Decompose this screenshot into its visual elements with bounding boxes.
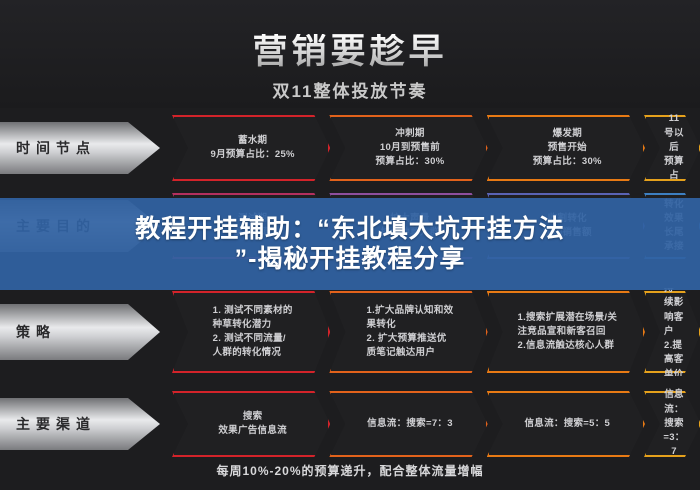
page-title: 营销要趁早: [252, 34, 447, 71]
strategy-cell-2: 1.扩大品牌认知和效 果转化 2. 扩大预算推送优 质笔记触达用户: [329, 288, 486, 376]
row-label-strategy: 策略: [0, 288, 172, 376]
row-label-plate: 策略: [0, 304, 160, 360]
cell-line: 2. 扩大预算推送优: [367, 332, 454, 346]
cell-line: 信息流：搜索=7：3: [367, 417, 453, 431]
cell-line: 信息流：搜索=3：7: [663, 388, 684, 459]
timeline-cell-4-text: 返场期 11号以后 预算占比：15%: [664, 112, 684, 184]
timeline-cell-4: 返场期 11号以后 预算占比：15%: [644, 112, 700, 184]
channel-cell-4-text: 信息流：搜索=3：7: [663, 388, 684, 459]
channel-cell-2: 信息流：搜索=7：3: [329, 388, 486, 460]
strategy-cell-3: 1.搜索扩展潜在场景/关 注竞品宣和新客召回 2.信息流触达核心人群: [487, 288, 644, 376]
timeline-cell-3: 爆发期 预售开始 预算占比：30%: [487, 112, 644, 184]
strategy-cell-4-text: 1. 返场阶段持 续影响客户 2.提高客单价 的投放方式: [664, 288, 684, 376]
row-strategy: 策略 1. 测试不同素材的 种草转化潜力 2. 测试不同流量/ 人群的转化情况 …: [0, 288, 700, 376]
channel-cell-1: 搜索 效果广告信息流: [172, 388, 329, 460]
strategy-cell-1-text: 1. 测试不同素材的 种草转化潜力 2. 测试不同流量/ 人群的转化情况: [213, 304, 293, 361]
cell-line: 9月预算占比：25%: [211, 148, 295, 162]
poster-header: 营销要趁早 双11整体投放节奏: [0, 0, 700, 108]
cell-line: 搜索: [218, 410, 287, 424]
cell-line: 预售开始: [533, 141, 602, 155]
cell-line: 预算占比：30%: [376, 155, 445, 169]
strategy-cell-1: 1. 测试不同素材的 种草转化潜力 2. 测试不同流量/ 人群的转化情况: [172, 288, 329, 376]
timeline-cell-2: 冲刺期 10月到预售前 预算占比：30%: [329, 112, 486, 184]
overlay-banner-line-2: ”-揭秘开挂教程分享: [235, 244, 466, 275]
cell-line: 爆发期: [533, 127, 602, 141]
row-label-timeline: 时间节点: [0, 112, 172, 184]
cell-line: 质笔记触达用户: [367, 346, 454, 360]
row-label-text: 策略: [0, 322, 56, 342]
overlay-banner: 教程开挂辅助：“东北填大坑开挂方法 ”-揭秘开挂教程分享: [0, 198, 700, 290]
channel-cell-2-text: 信息流：搜索=7：3: [367, 417, 453, 431]
cell-line: 2.提高客单价: [664, 339, 684, 376]
row-channel: 主要渠道 搜索 效果广告信息流 信息流：搜索=7：3 信息流：搜索=5：: [0, 388, 700, 460]
cell-line: 人群的转化情况: [213, 346, 293, 360]
cell-line: 1.搜索扩展潜在场景/关: [517, 311, 617, 325]
cell-line: 11号以后: [664, 112, 684, 155]
cell-line: 续影响客户: [664, 296, 684, 339]
strategy-cell-2-text: 1.扩大品牌认知和效 果转化 2. 扩大预算推送优 质笔记触达用户: [367, 304, 454, 361]
cell-line: 果转化: [367, 318, 454, 332]
cell-line: 注竞品宣和新客召回: [517, 325, 617, 339]
cell-line: 2. 测试不同流量/: [213, 332, 293, 346]
footer-note: 每周10%-20%的预算递升，配合整体流量增幅: [0, 462, 700, 479]
row-label-plate: 时间节点: [0, 122, 160, 174]
channel-cell-4: 信息流：搜索=3：7: [644, 388, 700, 460]
row-label-text: 主要渠道: [0, 414, 96, 434]
timeline-cell-3-text: 爆发期 预售开始 预算占比：30%: [533, 127, 602, 170]
poster-root: 营销要趁早 双11整体投放节奏 时间节点 蓄水期 9月预算占比：25% 冲刺期 …: [0, 0, 700, 490]
cell-line: 1.扩大品牌认知和效: [367, 304, 454, 318]
timeline-cell-1: 蓄水期 9月预算占比：25%: [172, 112, 329, 184]
row-label-channel: 主要渠道: [0, 388, 172, 460]
cell-line: 效果广告信息流: [218, 424, 287, 438]
row-label-plate: 主要渠道: [0, 398, 160, 450]
channel-cell-1-text: 搜索 效果广告信息流: [218, 410, 287, 439]
cell-line: 冲刺期: [376, 127, 445, 141]
row-timeline: 时间节点 蓄水期 9月预算占比：25% 冲刺期 10月到预售前 预算占比：30%: [0, 112, 700, 184]
cell-line: 10月到预售前: [376, 141, 445, 155]
row-cells-strategy: 1. 测试不同素材的 种草转化潜力 2. 测试不同流量/ 人群的转化情况 1.扩…: [172, 288, 700, 376]
cell-line: 预算占比：30%: [533, 155, 602, 169]
cell-line: 1. 测试不同素材的: [213, 304, 293, 318]
timeline-cell-1-text: 蓄水期 9月预算占比：25%: [211, 134, 295, 163]
cell-line: 种草转化潜力: [213, 318, 293, 332]
cell-line: 预算占比：15%: [664, 155, 684, 184]
cell-line: 信息流：搜索=5：5: [525, 417, 611, 431]
row-label-text: 时间节点: [0, 138, 96, 158]
channel-cell-3-text: 信息流：搜索=5：5: [525, 417, 611, 431]
row-cells-timeline: 蓄水期 9月预算占比：25% 冲刺期 10月到预售前 预算占比：30% 爆发期 …: [172, 112, 700, 184]
cell-line: 2.信息流触达核心人群: [517, 339, 617, 353]
timeline-cell-2-text: 冲刺期 10月到预售前 预算占比：30%: [376, 127, 445, 170]
cell-line: 蓄水期: [211, 134, 295, 148]
strategy-cell-3-text: 1.搜索扩展潜在场景/关 注竞品宣和新客召回 2.信息流触达核心人群: [517, 311, 617, 354]
row-cells-channel: 搜索 效果广告信息流 信息流：搜索=7：3 信息流：搜索=5：5 信息流：: [172, 388, 700, 460]
page-subtitle: 双11整体投放节奏: [273, 77, 428, 102]
strategy-cell-4: 1. 返场阶段持 续影响客户 2.提高客单价 的投放方式: [644, 288, 700, 376]
overlay-banner-line-1: 教程开挂辅助：“东北填大坑开挂方法: [135, 214, 565, 245]
channel-cell-3: 信息流：搜索=5：5: [487, 388, 644, 460]
